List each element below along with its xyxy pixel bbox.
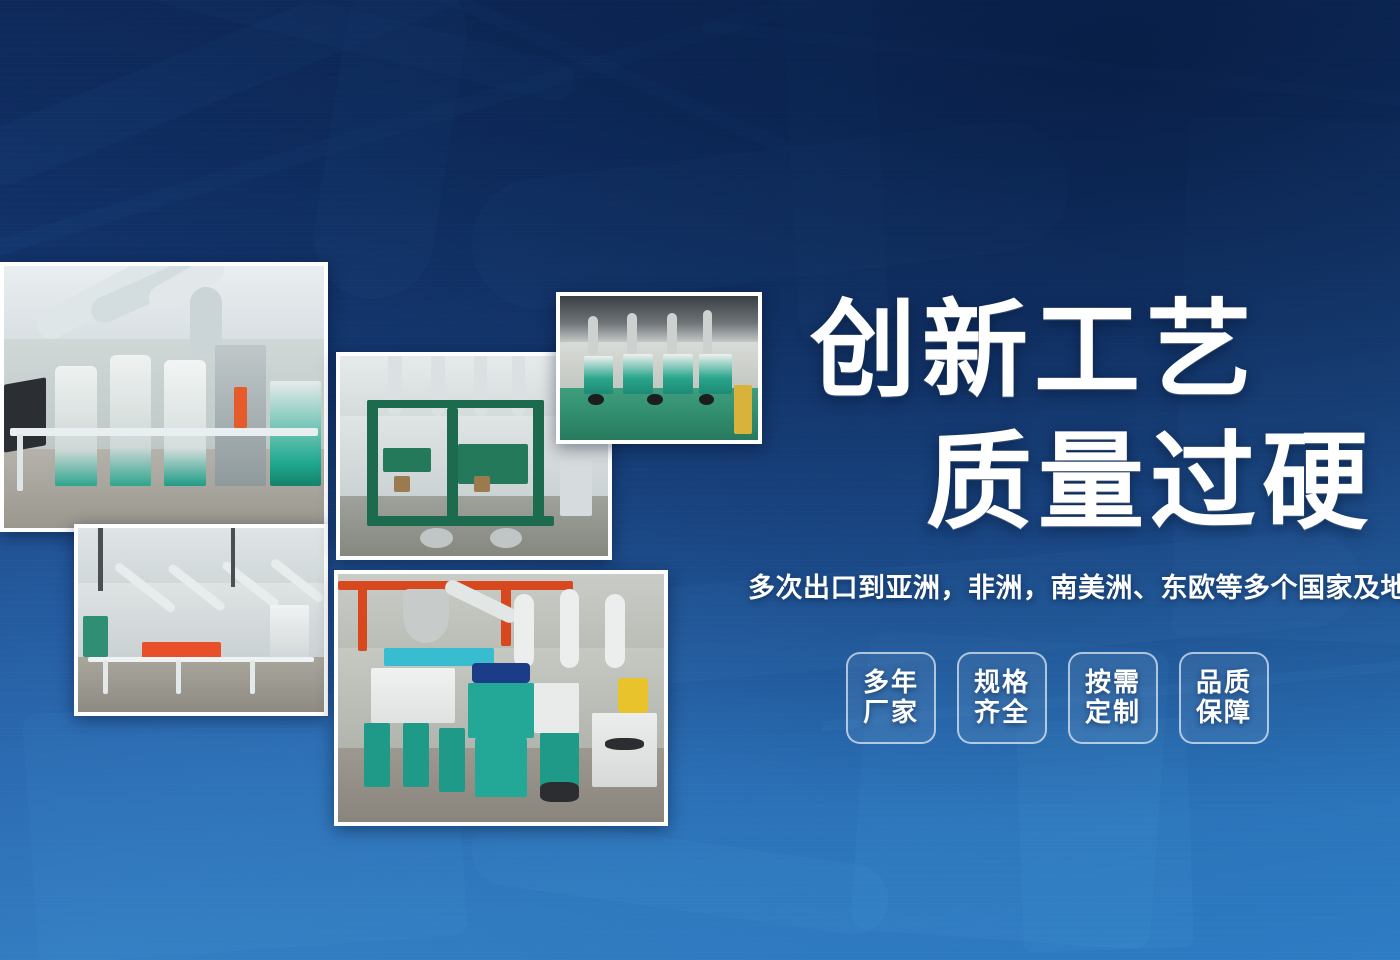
feature-badge-years[interactable]: 多年 厂家 <box>846 652 936 744</box>
photo-flour-set <box>334 570 668 826</box>
subtitle-text: 多次出口到亚洲，非洲，南美洲、东欧等多个国家及地区 <box>748 566 1400 605</box>
promo-banner: 创新工艺 质量过硬 多次出口到亚洲，非洲，南美洲、东欧等多个国家及地区 多年 厂… <box>0 0 1400 960</box>
badge-line-bottom: 厂家 <box>863 698 919 728</box>
headline-line-2: 质量过硬 <box>926 430 1374 536</box>
badge-line-top: 多年 <box>863 668 919 698</box>
feature-badge-row: 多年 厂家 规格 齐全 按需 定制 品质 保障 <box>846 652 1269 744</box>
feature-badge-custom[interactable]: 按需 定制 <box>1068 652 1158 744</box>
photo-teal-row <box>556 292 762 444</box>
photo-mill-line <box>0 262 328 532</box>
badge-line-top: 按需 <box>1085 668 1141 698</box>
feature-badge-specs[interactable]: 规格 齐全 <box>957 652 1047 744</box>
badge-line-bottom: 保障 <box>1196 698 1252 728</box>
feature-badge-quality[interactable]: 品质 保障 <box>1179 652 1269 744</box>
badge-line-top: 规格 <box>974 668 1030 698</box>
headline-line-1: 创新工艺 <box>810 298 1258 404</box>
badge-line-bottom: 齐全 <box>974 698 1030 728</box>
badge-line-top: 品质 <box>1196 668 1252 698</box>
photo-platform <box>74 524 328 716</box>
badge-line-bottom: 定制 <box>1085 698 1141 728</box>
